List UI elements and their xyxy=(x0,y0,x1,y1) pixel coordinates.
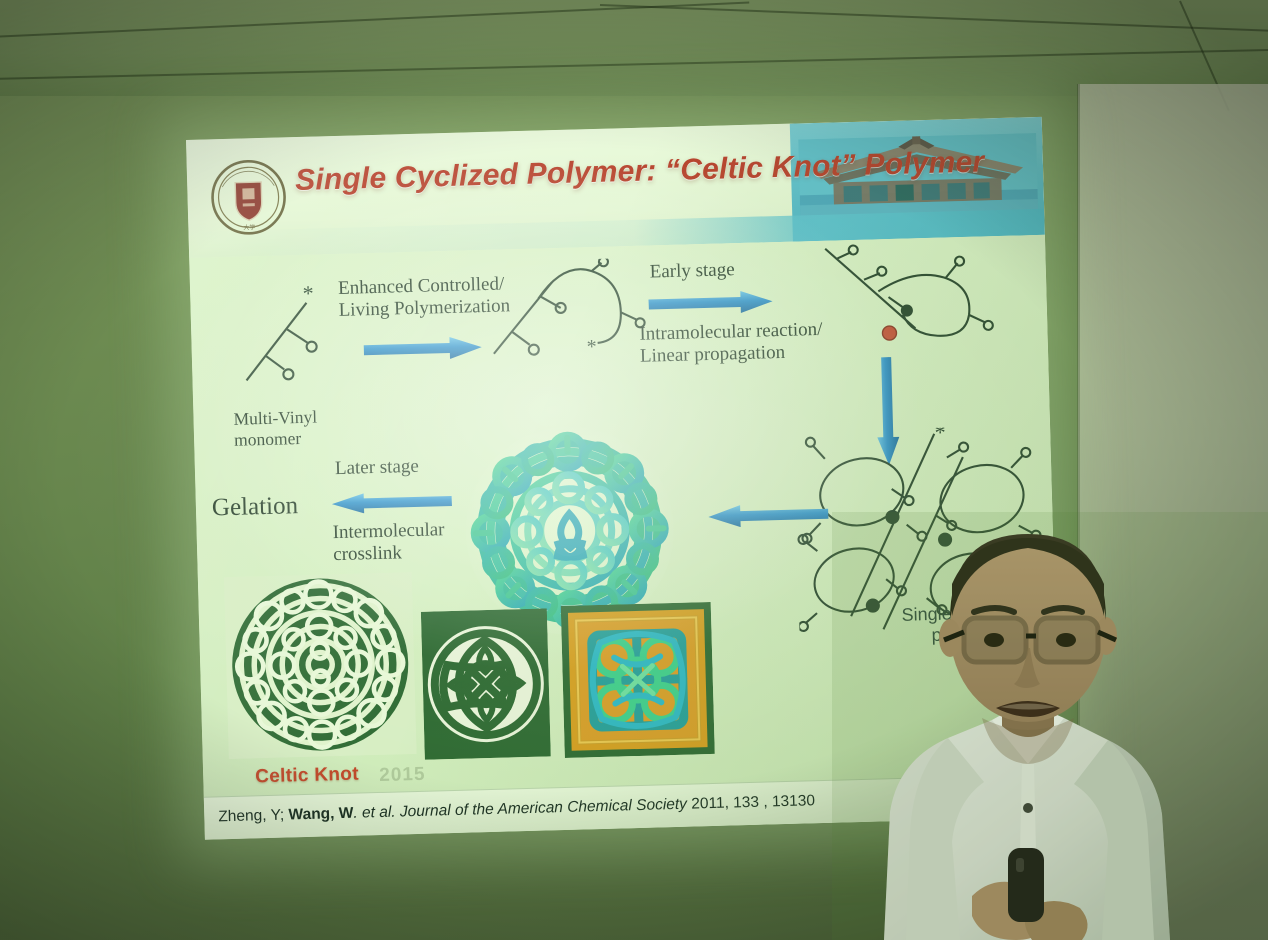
conference-room-photo: 大学 Single Cyclized Polymer: “Celtic Knot… xyxy=(0,0,1268,940)
color-cast xyxy=(832,512,1268,940)
presenter-figure xyxy=(832,512,1268,940)
